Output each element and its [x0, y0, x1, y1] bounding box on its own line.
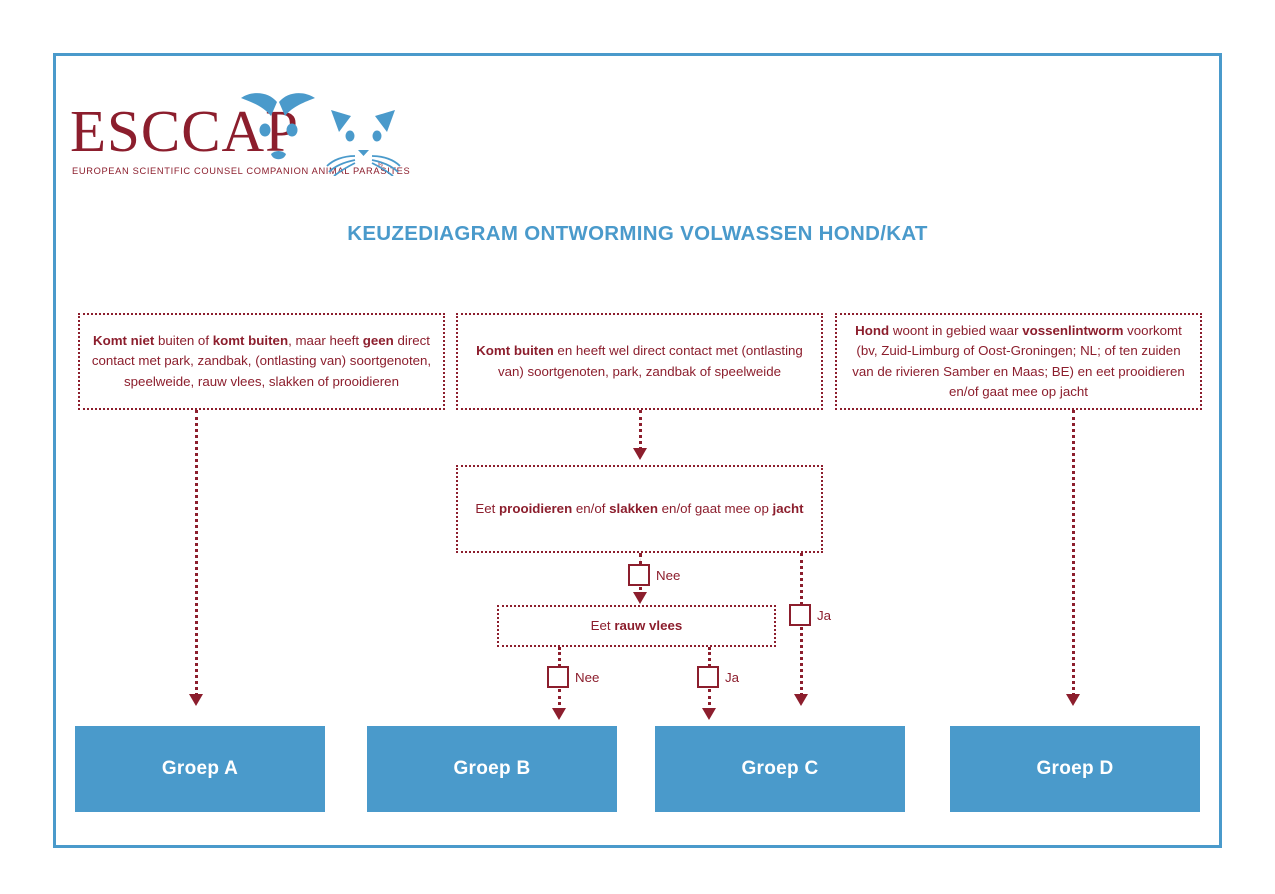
answer-meat-yes-label: Ja — [725, 670, 739, 685]
result-group-b[interactable]: Groep B — [367, 726, 617, 812]
answer-prey-yes-label: Ja — [817, 608, 831, 623]
answer-meat-yes[interactable]: Ja — [697, 666, 739, 688]
checkbox-prey-no-icon[interactable] — [628, 564, 650, 586]
diagram-canvas: ESCCAP EUROPEAN SCIENTIFIC COUNSEL COMPA… — [0, 0, 1275, 894]
arrow-c-to-group-d — [1066, 694, 1080, 706]
arrow-meat-yes-to-group-c — [702, 708, 716, 720]
result-group-a[interactable]: Groep A — [75, 726, 325, 812]
criteria-box-b: Komt buiten en heeft wel direct contact … — [456, 313, 823, 410]
arrow-prey-yes-to-group-c — [794, 694, 808, 706]
answer-meat-no-label: Nee — [575, 670, 599, 685]
connector-c-to-group-d — [1072, 410, 1075, 696]
connector-a-to-group-a — [195, 410, 198, 696]
question-box-meat: Eet rauw vlees — [497, 605, 776, 647]
criteria-box-c: Hond woont in gebied waar vossenlintworm… — [835, 313, 1202, 410]
question-box-prey: Eet prooidieren en/of slakken en/of gaat… — [456, 465, 823, 553]
arrow-prey-no-to-meat — [633, 592, 647, 604]
dog-and-cat-faces-icon — [235, 88, 410, 176]
result-group-d-label: Groep D — [1036, 758, 1113, 780]
result-group-a-label: Groep A — [162, 758, 238, 780]
page-title: KEUZEDIAGRAM ONTWORMING VOLWASSEN HOND/K… — [53, 222, 1222, 246]
arrow-a-to-group-a — [189, 694, 203, 706]
answer-prey-yes[interactable]: Ja — [789, 604, 831, 626]
question-box-meat-text: Eet rauw vlees — [591, 616, 683, 636]
connector-prey-yes — [800, 553, 803, 605]
arrow-meat-no-to-group-b — [552, 708, 566, 720]
criteria-box-a: Komt niet buiten of komt buiten, maar he… — [78, 313, 445, 410]
answer-meat-no[interactable]: Nee — [547, 666, 599, 688]
answer-prey-no-label: Nee — [656, 568, 680, 583]
checkbox-meat-no-icon[interactable] — [547, 666, 569, 688]
result-group-c[interactable]: Groep C — [655, 726, 905, 812]
result-group-c-label: Groep C — [741, 758, 818, 780]
criteria-box-c-text: Hond woont in gebied waar vossenlintworm… — [845, 321, 1192, 402]
checkbox-prey-yes-icon[interactable] — [789, 604, 811, 626]
connector-meat-no — [558, 647, 561, 667]
esccap-logo: ESCCAP EUROPEAN SCIENTIFIC COUNSEL COMPA… — [70, 88, 410, 183]
result-group-b-label: Groep B — [453, 758, 530, 780]
question-box-prey-text: Eet prooidieren en/of slakken en/of gaat… — [475, 499, 803, 519]
connector-meat-yes — [708, 647, 711, 667]
result-group-d[interactable]: Groep D — [950, 726, 1200, 812]
connector-prey-yes-down — [800, 627, 803, 696]
checkbox-meat-yes-icon[interactable] — [697, 666, 719, 688]
connector-b-to-prey — [639, 410, 642, 450]
answer-prey-no[interactable]: Nee — [628, 564, 680, 586]
criteria-box-a-text: Komt niet buiten of komt buiten, maar he… — [88, 331, 435, 392]
criteria-box-b-text: Komt buiten en heeft wel direct contact … — [466, 341, 813, 381]
arrow-b-to-prey — [633, 448, 647, 460]
